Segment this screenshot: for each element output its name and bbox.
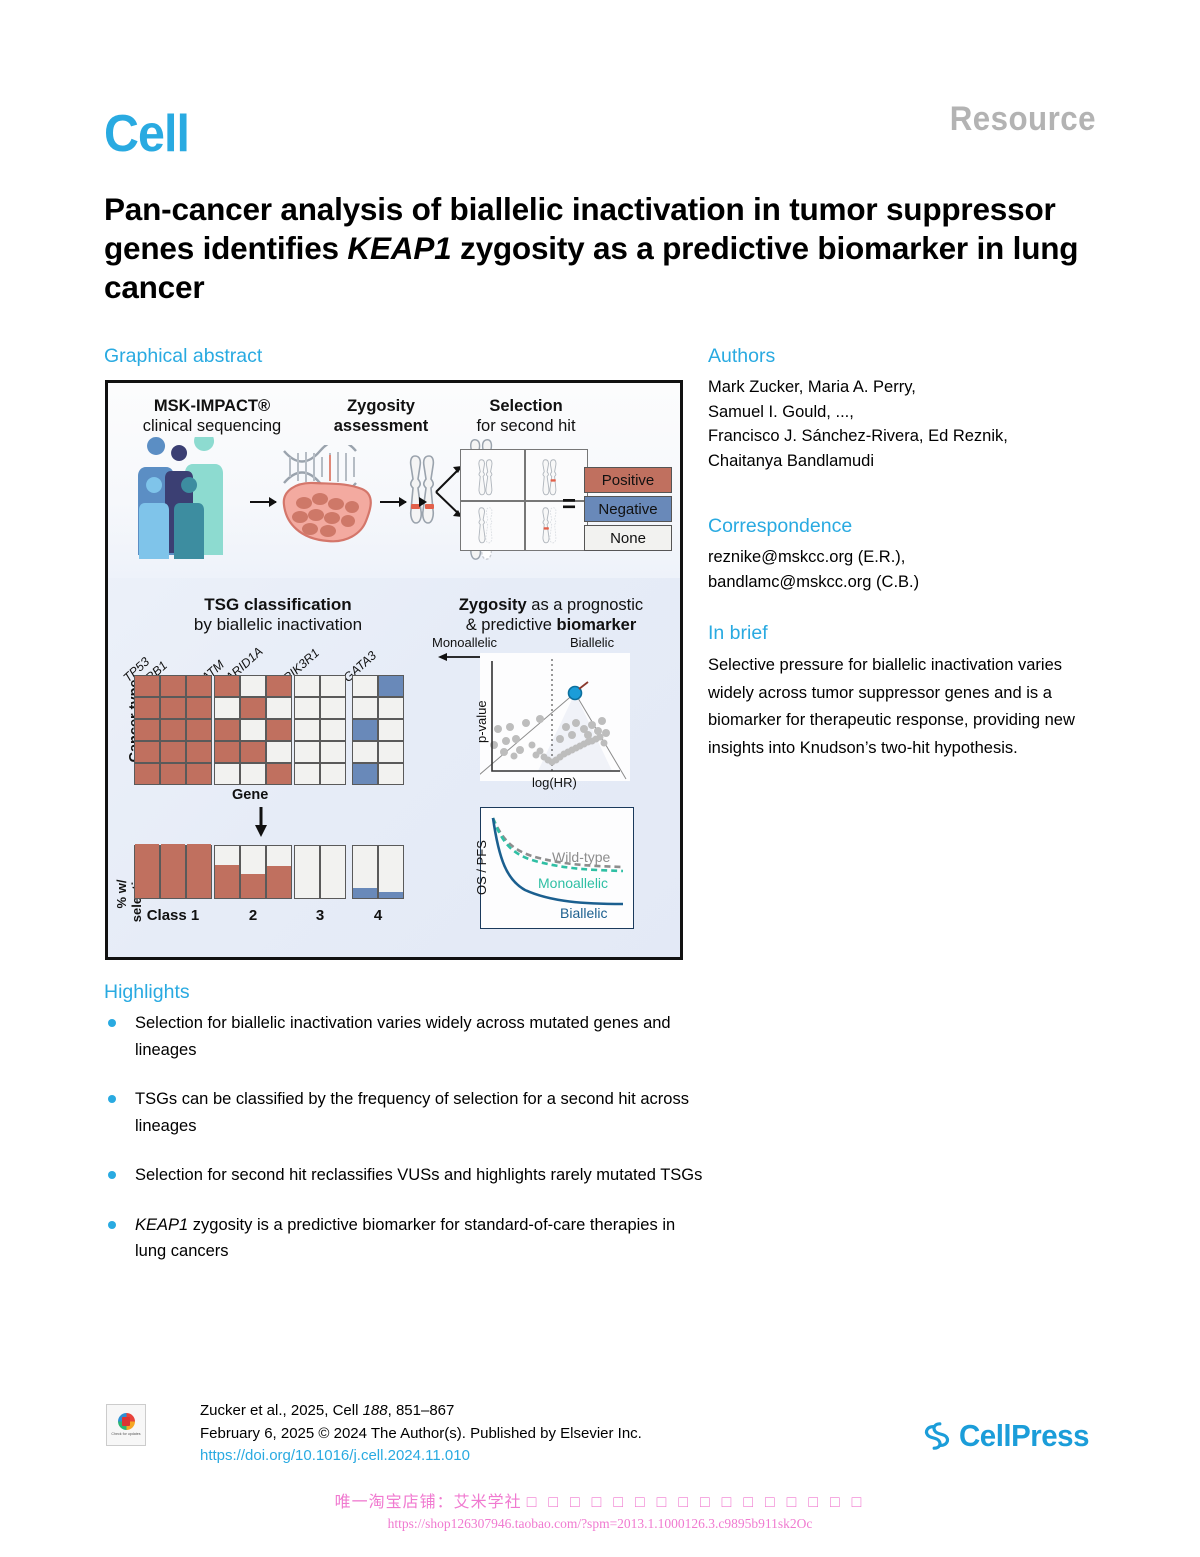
heatmap-cell <box>352 697 378 719</box>
workflow-step-3-bold: Selection <box>489 397 562 415</box>
heatmap-cell <box>378 675 404 697</box>
author-line: Mark Zucker, Maria A. Perry, <box>708 375 1098 400</box>
heatmap-cell <box>186 697 212 719</box>
bullet-icon <box>108 1019 116 1027</box>
volcano-plot <box>480 653 630 781</box>
in-brief-body: Selective pressure for biallelic inactiv… <box>708 652 1098 762</box>
citation-block: Zucker et al., 2025, Cell 188, 851–867 F… <box>200 1400 642 1468</box>
citation-volume: 188 <box>363 1402 388 1419</box>
heatmap-cell <box>320 697 346 719</box>
biallelic-arrow-label: Biallelic <box>570 635 614 650</box>
heatmap-cell <box>320 763 346 785</box>
graphical-abstract-heading: Graphical abstract <box>104 345 262 368</box>
author-line: Samuel I. Gould, ..., <box>708 400 1098 425</box>
workflow-step-3-sub: for second hit <box>476 417 575 435</box>
zyg-title-amp: & predictive <box>466 616 557 634</box>
heatmap-cell <box>134 741 160 763</box>
heatmap-cell <box>320 719 346 741</box>
bar-fill <box>379 892 403 898</box>
heatmap-cell <box>320 741 346 763</box>
bar-column <box>134 845 160 899</box>
bar-column <box>320 845 346 899</box>
correspondence-email[interactable]: bandlamc@mskcc.org (C.B.) <box>708 570 1098 595</box>
correspondence-email[interactable]: reznike@mskcc.org (E.R.), <box>708 545 1098 570</box>
highlight-text: Selection for biallelic inactivation var… <box>135 1014 671 1059</box>
heatmap-cell <box>294 741 320 763</box>
heatmap-cell <box>186 675 212 697</box>
patient-cohort-icon <box>126 437 244 559</box>
heatmap-cell <box>266 719 292 741</box>
in-brief-text: Selective pressure for biallelic inactiv… <box>708 652 1098 762</box>
heatmap-cell <box>378 741 404 763</box>
article-type-label: Resource <box>950 100 1096 139</box>
quadrant-chromosome-2-icon <box>539 458 561 496</box>
zyg-title-bold1: Zygosity <box>459 596 527 614</box>
authors-list: Mark Zucker, Maria A. Perry, Samuel I. G… <box>708 375 1098 473</box>
heatmap-cell <box>266 741 292 763</box>
tsg-title-bold: TSG classification <box>204 595 351 614</box>
quadrant-chromosome-3-icon <box>475 506 497 544</box>
heatmap-cell <box>294 697 320 719</box>
curve-label-wildtype: Wild-type <box>552 849 610 865</box>
legend-item-negative: Negative <box>584 496 672 522</box>
curve-label-biallelic: Biallelic <box>560 905 607 921</box>
heatmap-cell <box>294 763 320 785</box>
tsg-title-sub: by biallelic inactivation <box>194 615 362 634</box>
bar-column <box>352 845 378 899</box>
bar-fill <box>215 865 239 898</box>
volcano-y-axis-label: p-value <box>474 700 489 743</box>
heatmap-cell <box>240 697 266 719</box>
heatmap-cell <box>134 697 160 719</box>
bar-fill <box>241 874 265 898</box>
heatmap-cell <box>352 719 378 741</box>
journal-logo: Cell <box>104 108 195 160</box>
heatmap-cell <box>240 719 266 741</box>
citation-line: Zucker et al., 2025, Cell 188, 851–867 <box>200 1400 642 1423</box>
highlight-italic: KEAP1 <box>135 1216 188 1234</box>
heatmap-cell <box>186 719 212 741</box>
heatmap-cell <box>160 763 186 785</box>
heatmap-cell <box>352 675 378 697</box>
bullet-icon <box>108 1171 116 1179</box>
tsg-classification-title: TSG classification by biallelic inactiva… <box>122 595 434 635</box>
highlight-item: TSGs can be classified by the frequency … <box>104 1086 704 1139</box>
heatmap-cell <box>214 763 240 785</box>
watermark: 唯一淘宝店铺：艾米学社 □ □ □ □ □ □ □ □ □ □ □ □ □ □ … <box>0 1492 1200 1533</box>
heatmap-cell <box>160 697 186 719</box>
correspondence-list: reznike@mskcc.org (E.R.), bandlamc@mskcc… <box>708 545 1098 594</box>
heatmap-cell <box>160 741 186 763</box>
curve-label-monoallelic: Monoallelic <box>538 875 608 891</box>
heatmap-cell <box>134 675 160 697</box>
volcano-x-axis-label: log(HR) <box>532 775 577 790</box>
bar-column <box>266 845 292 899</box>
highlight-text: TSGs can be classified by the frequency … <box>135 1090 689 1135</box>
heatmap-cell <box>378 763 404 785</box>
bar-fill <box>135 844 159 898</box>
heatmap-cell <box>378 697 404 719</box>
heatmap-cell <box>214 741 240 763</box>
title-gene-italic: KEAP1 <box>347 230 451 266</box>
highlight-text: zygosity is a predictive biomarker for s… <box>135 1216 675 1261</box>
watermark-url: https://shop126307946.taobao.com/?spm=20… <box>0 1514 1200 1533</box>
journal-logo-text: Cell <box>104 108 189 160</box>
zyg-title-mid: as a prognostic <box>527 596 643 614</box>
copyright-line: February 6, 2025 © 2024 The Author(s). P… <box>200 1423 642 1446</box>
heatmap-cell <box>378 719 404 741</box>
check-for-updates-label: Check for updates <box>111 1432 140 1437</box>
class-label-1: Class 1 <box>134 907 212 924</box>
bar-column <box>240 845 266 899</box>
cellpress-logo[interactable]: CellPress <box>922 1418 1096 1454</box>
check-for-updates-badge[interactable]: Check for updates <box>106 1404 146 1446</box>
monoallelic-arrow-label: Monoallelic <box>432 635 497 650</box>
heatmap-cell <box>352 763 378 785</box>
heatmap-cell <box>214 675 240 697</box>
heatmap-cell <box>186 741 212 763</box>
zygosity-biomarker-title: Zygosity as a prognostic & predictive bi… <box>426 595 676 635</box>
graphical-abstract-figure: MSK-IMPACT® clinical sequencing Zygosity… <box>105 380 683 960</box>
bar-fill <box>161 844 185 898</box>
heatmap-cell <box>294 675 320 697</box>
heatmap-cell <box>214 719 240 741</box>
heatmap-cell <box>240 675 266 697</box>
quadrant-chromosome-4-icon <box>539 506 561 544</box>
highlight-item: Selection for second hit reclassifies VU… <box>104 1162 704 1189</box>
heatmap-cell <box>214 697 240 719</box>
heatmap-cell <box>266 697 292 719</box>
highlights-heading: Highlights <box>104 981 190 1004</box>
zyg-title-bold2: biomarker <box>557 616 637 634</box>
highlight-item: KEAP1 zygosity is a predictive biomarker… <box>104 1212 704 1265</box>
workflow-step-1-sub: clinical sequencing <box>143 417 282 435</box>
workflow-arrow-2 <box>380 501 406 503</box>
legend-item-positive: Positive <box>584 467 672 493</box>
page-title: Pan-cancer analysis of biallelic inactiv… <box>104 190 1094 307</box>
authors-heading: Authors <box>708 345 775 368</box>
doi-link[interactable]: https://doi.org/10.1016/j.cell.2024.11.0… <box>200 1445 642 1468</box>
bar-fill <box>353 888 377 898</box>
bar-column <box>160 845 186 899</box>
correspondence-heading: Correspondence <box>708 515 852 538</box>
heatmap-cell <box>266 675 292 697</box>
bar-fill <box>267 866 291 898</box>
workflow-step-2-sub: assessment <box>334 417 428 435</box>
heatmap-cell <box>134 719 160 741</box>
bullet-icon <box>108 1221 116 1229</box>
heatmap-cell <box>240 741 266 763</box>
author-line: Chaitanya Bandlamudi <box>708 449 1098 474</box>
bullet-icon <box>108 1095 116 1103</box>
heatmap-cell <box>186 763 212 785</box>
survival-curve-plot <box>480 807 634 929</box>
equals-sign: = <box>562 491 576 519</box>
workflow-step-1-bold: MSK-IMPACT® <box>154 397 270 415</box>
workflow-step-3-title: Selection for second hit <box>456 397 596 436</box>
legend-item-none: None <box>584 525 672 551</box>
citation-pre: Zucker et al., 2025, Cell <box>200 1402 363 1419</box>
heatmap-cell <box>266 763 292 785</box>
in-brief-heading: In brief <box>708 622 768 645</box>
watermark-line-1: 唯一淘宝店铺：艾米学社 □ □ □ □ □ □ □ □ □ □ □ □ □ □ … <box>0 1492 1200 1514</box>
class-label-3: 3 <box>294 907 346 924</box>
workflow-step-1-title: MSK-IMPACT® clinical sequencing <box>122 397 302 436</box>
watermark-shop-text: 唯一淘宝店铺：艾米学社 <box>335 1494 522 1511</box>
author-line: Francisco J. Sánchez-Rivera, Ed Reznik, <box>708 424 1098 449</box>
class-label-4: 4 <box>352 907 404 924</box>
down-arrow-icon <box>254 807 268 839</box>
cellpress-wordmark: CellPress <box>959 1418 1089 1454</box>
heatmap-cell <box>160 675 186 697</box>
workflow-arrow-1 <box>250 501 276 503</box>
workflow-step-2-bold: Zygosity <box>347 397 415 415</box>
bar-column <box>378 845 404 899</box>
cellpress-mark-icon <box>922 1421 952 1451</box>
watermark-boxes: □ □ □ □ □ □ □ □ □ □ □ □ □ □ □ □ <box>527 1494 866 1511</box>
bar-column <box>214 845 240 899</box>
highlights-list: Selection for biallelic inactivation var… <box>104 1010 704 1288</box>
bar-column <box>186 845 212 899</box>
heatmap-cell <box>160 719 186 741</box>
heatmap-cell <box>134 763 160 785</box>
heatmap-x-axis-label: Gene <box>232 787 268 803</box>
article-cover-page: Cell Resource Pan-cancer analysis of bia… <box>0 0 1200 1557</box>
tumor-tissue-icon <box>274 479 378 543</box>
heatmap-cell <box>294 719 320 741</box>
survival-y-axis-label: OS / PFS <box>474 840 489 895</box>
heatmap-cell <box>240 763 266 785</box>
selection-legend: Positive Negative None <box>584 467 672 554</box>
heatmap-cell <box>352 741 378 763</box>
highlight-item: Selection for biallelic inactivation var… <box>104 1010 704 1063</box>
quadrant-chromosome-1-icon <box>475 458 497 496</box>
highlight-text: Selection for second hit reclassifies VU… <box>135 1166 702 1184</box>
bar-column <box>294 845 320 899</box>
heatmap-cell <box>320 675 346 697</box>
crossmark-icon <box>118 1413 135 1430</box>
class-label-2: 2 <box>214 907 292 924</box>
workflow-step-2-title: Zygosity assessment <box>312 397 450 436</box>
bar-fill <box>187 844 211 898</box>
citation-pages: , 851–867 <box>388 1402 455 1419</box>
